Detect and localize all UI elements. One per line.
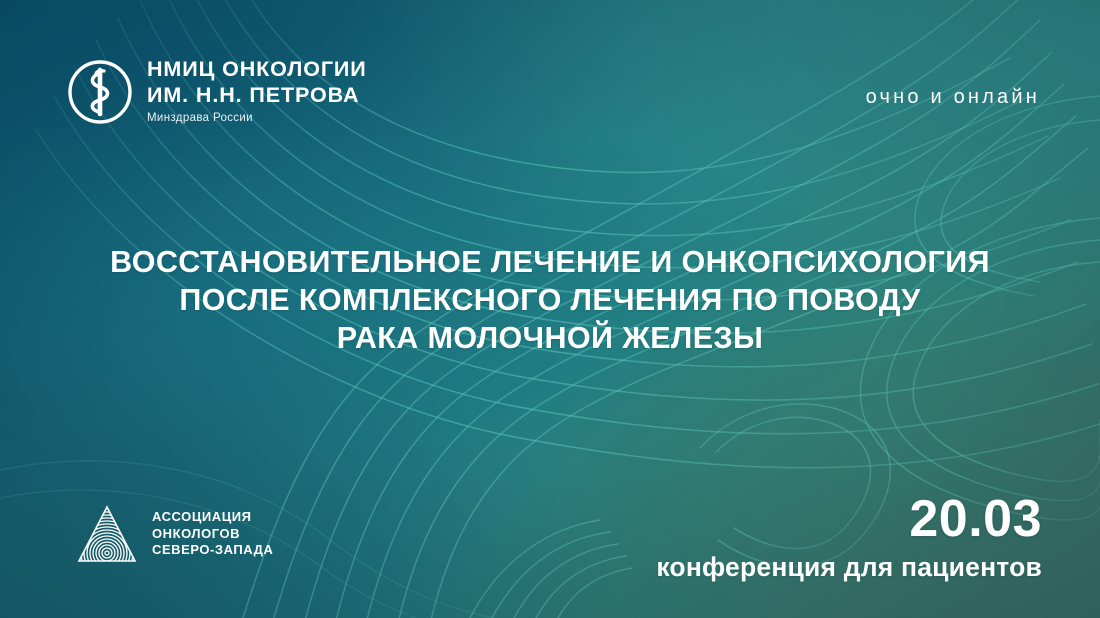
event-date-block: 20.03 конференция для пациентов (656, 493, 1042, 582)
conference-banner: НМИЦ ОНКОЛОГИИ ИМ. Н.Н. ПЕТРОВА Минздрав… (0, 0, 1100, 618)
institute-name-line2: ИМ. Н.Н. ПЕТРОВА (147, 85, 367, 107)
page-title: ВОССТАНОВИТЕЛЬНОЕ ЛЕЧЕНИЕ И ОНКОПСИХОЛОГ… (0, 243, 1100, 357)
event-caption: конференция для пациентов (656, 552, 1042, 582)
institute-subtitle: Минздрава России (147, 113, 367, 125)
title-line-3: РАКА МОЛОЧНОЙ ЖЕЛЕЗЫ (40, 319, 1060, 357)
concentric-triangle-icon (76, 503, 138, 565)
title-line-2: ПОСЛЕ КОМПЛЕКСНОГО ЛЕЧЕНИЯ ПО ПОВОДУ (40, 281, 1060, 319)
association-name-line2: ОНКОЛОГОВ (152, 526, 273, 543)
title-line-1: ВОССТАНОВИТЕЛЬНОЕ ЛЕЧЕНИЕ И ОНКОПСИХОЛОГ… (40, 243, 1060, 281)
institute-logo: НМИЦ ОНКОЛОГИИ ИМ. Н.Н. ПЕТРОВА Минздрав… (66, 58, 367, 126)
asclepius-rod-circle-icon (66, 58, 134, 126)
format-note: очно и онлайн (866, 86, 1040, 109)
institute-name-line1: НМИЦ ОНКОЛОГИИ (147, 59, 367, 81)
event-date: 20.03 (656, 493, 1042, 545)
association-name-line3: СЕВЕРО-ЗАПАДА (152, 542, 273, 559)
association-name-line1: АССОЦИАЦИЯ (152, 509, 273, 526)
institute-logo-text: НМИЦ ОНКОЛОГИИ ИМ. Н.Н. ПЕТРОВА Минздрав… (147, 59, 367, 125)
association-logo: АССОЦИАЦИЯ ОНКОЛОГОВ СЕВЕРО-ЗАПАДА (76, 503, 273, 565)
association-logo-text: АССОЦИАЦИЯ ОНКОЛОГОВ СЕВЕРО-ЗАПАДА (152, 509, 273, 559)
